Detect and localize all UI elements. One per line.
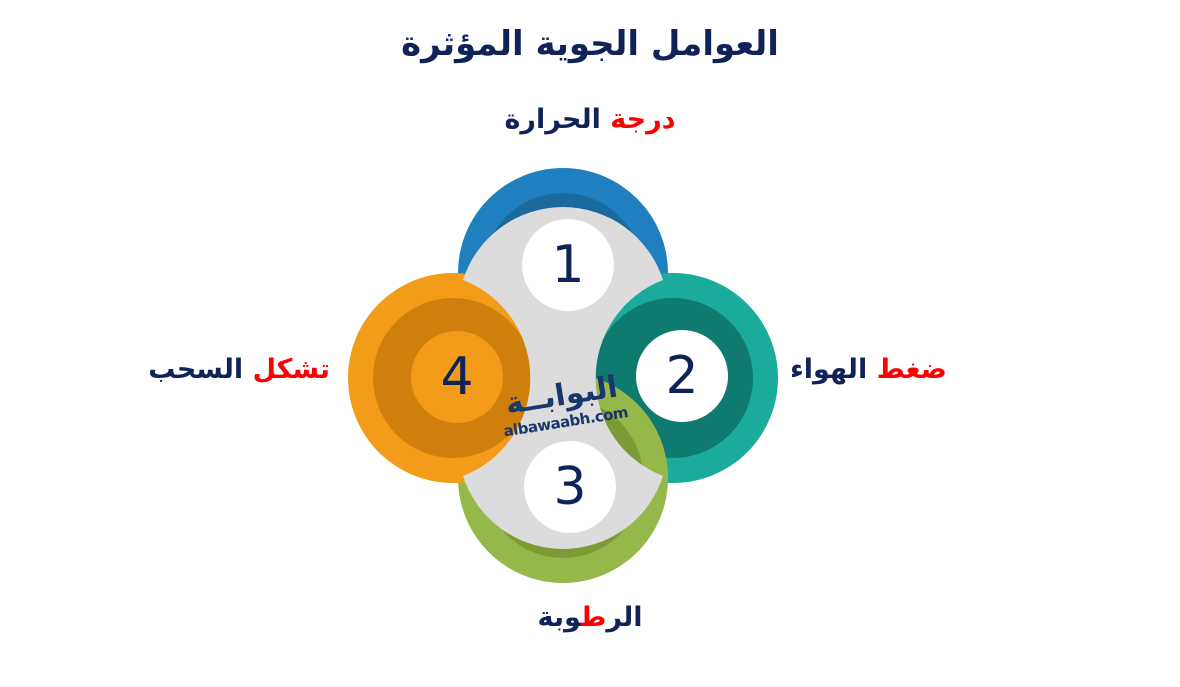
node-label-temperature-rest: الحرارة: [504, 104, 600, 135]
node-number-disc-1[interactable]: 1: [522, 219, 614, 311]
node-number-disc-2[interactable]: 2: [636, 330, 728, 422]
node-label-cloud-formation-highlight: تشكل: [253, 354, 330, 385]
node-label-temperature-rest-space: [601, 104, 610, 135]
page-title: العوامل الجوية المؤثرة: [0, 24, 1180, 64]
node-label-cloud-formation: تشكل السحب: [70, 355, 330, 385]
node-label-air-pressure-space: [867, 354, 876, 385]
node-number-2: 2: [665, 346, 698, 406]
node-number-disc-3[interactable]: 3: [524, 441, 616, 533]
node-label-humidity: الرطوبة: [0, 603, 1180, 633]
node-number-disc-4[interactable]: 4: [411, 331, 503, 423]
node-label-cloud-formation-rest: السحب: [148, 354, 243, 385]
node-label-air-pressure: ضغط الهواء: [790, 355, 1050, 385]
node-label-humidity-prefix: الر: [606, 602, 642, 633]
node-number-4: 4: [440, 347, 473, 407]
node-label-cloud-formation-space: [243, 354, 252, 385]
node-number-3: 3: [553, 457, 586, 517]
node-label-air-pressure-rest: الهواء: [790, 354, 867, 385]
petal-diagram: البوابــة albawaabh.com 1 2 3 4: [0, 0, 1180, 683]
infographic-canvas: العوامل الجوية المؤثرة درجة الحرارة ضغط …: [0, 0, 1180, 683]
node-label-air-pressure-highlight: ضغط: [877, 354, 947, 385]
node-label-humidity-suffix: وبة: [537, 602, 580, 633]
node-label-temperature: درجة الحرارة: [0, 105, 1180, 135]
node-label-humidity-highlight: ط: [581, 602, 606, 633]
node-label-temperature-highlight: درجة: [610, 104, 675, 135]
node-number-1: 1: [551, 235, 584, 295]
